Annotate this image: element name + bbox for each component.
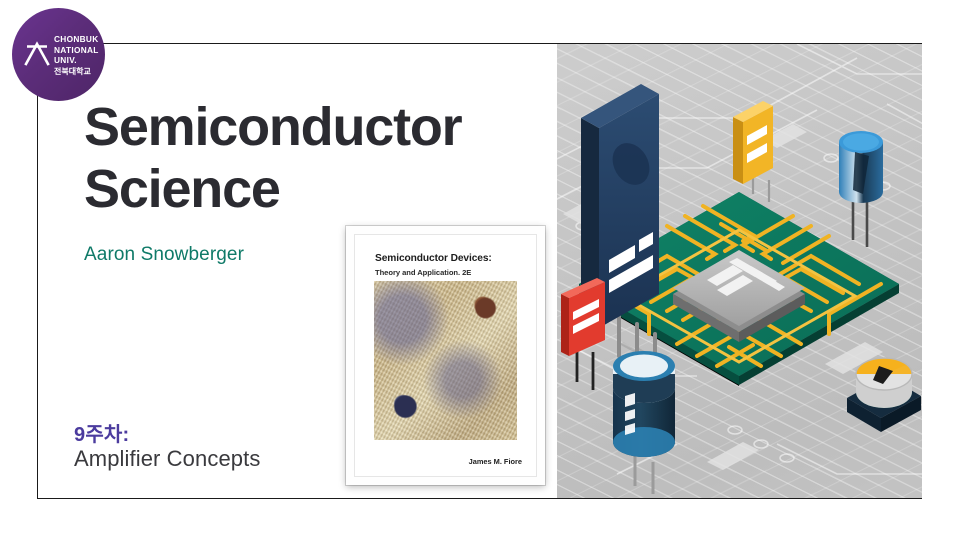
logo-line-1: CHONBUK <box>54 34 99 44</box>
logo-mark-icon <box>24 40 50 66</box>
frame-bottom-line <box>37 498 922 499</box>
university-logo: CHONBUK NATIONAL UNIV. 전북대학교 <box>12 8 105 101</box>
book-author: James M. Fiore <box>469 457 522 466</box>
red-ceramic-capacitor <box>561 278 605 390</box>
logo-korean: 전북대학교 <box>54 67 99 78</box>
subtitle-text: Amplifier Concepts <box>74 446 260 472</box>
illustration-panel <box>557 44 922 498</box>
title-line-2: Science <box>84 158 514 220</box>
title-line-1: Semiconductor <box>84 97 461 157</box>
book-cover-artwork <box>374 281 517 440</box>
logo-line-3: UNIV. <box>54 55 77 65</box>
page-title: Semiconductor Science <box>84 96 514 220</box>
book-cover: Semiconductor Devices: Theory and Applic… <box>346 226 545 485</box>
book-cover-inner: Semiconductor Devices: Theory and Applic… <box>354 234 537 477</box>
electrolytic-capacitor <box>613 351 675 494</box>
week-label: 9주차: <box>74 418 129 447</box>
book-title: Semiconductor Devices: <box>375 253 522 264</box>
trimmer-potentiometer <box>847 358 921 432</box>
book-subtitle: Theory and Application. 2E <box>375 268 522 277</box>
logo-text: CHONBUK NATIONAL UNIV. 전북대학교 <box>54 34 99 77</box>
author-name: Aaron Snowberger <box>84 244 244 266</box>
logo-line-2: NATIONAL <box>54 45 99 55</box>
yellow-film-capacitor <box>733 101 773 202</box>
slide-canvas: CHONBUK NATIONAL UNIV. 전북대학교 Semiconduct… <box>0 0 960 540</box>
blue-cylinder-capacitor <box>839 131 883 247</box>
frame-left-line <box>37 43 38 499</box>
isometric-circuit-illustration <box>557 44 922 498</box>
